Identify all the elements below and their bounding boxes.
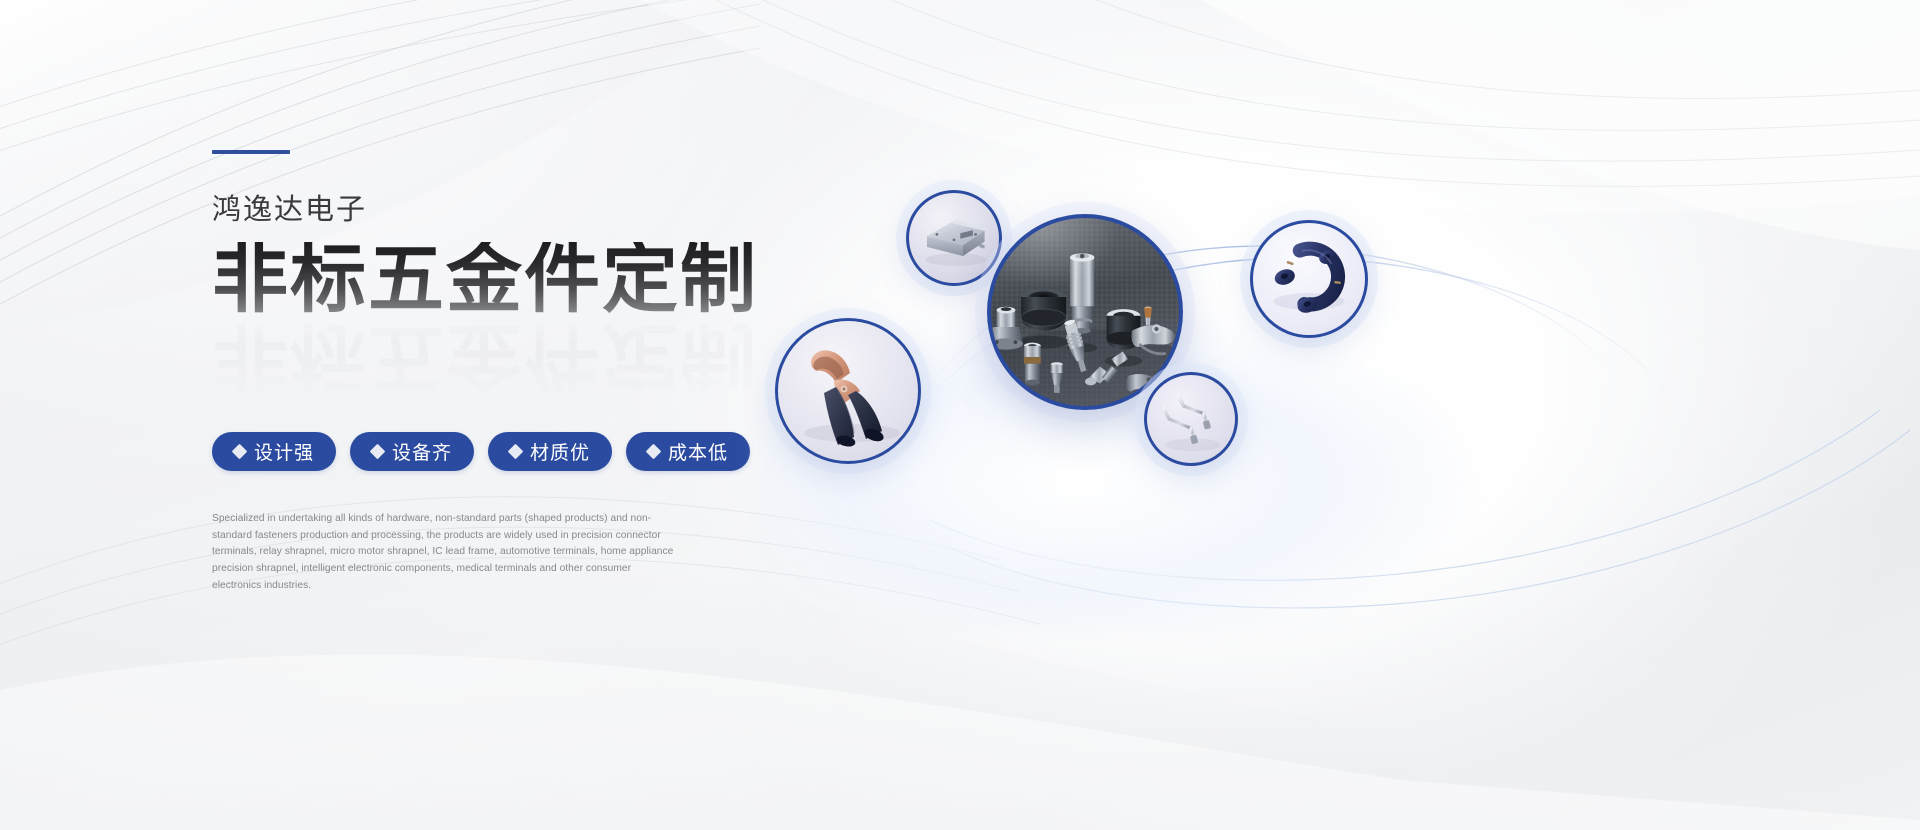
- diamond-icon: [646, 444, 662, 460]
- feature-badge-label: 设备齐: [392, 438, 452, 465]
- feature-badge-material[interactable]: 材质优: [488, 432, 612, 471]
- gallery-item-copper-battery-clamp[interactable]: [775, 318, 921, 464]
- hero-banner: 鸿逸达电子 非标五金件定制 非标五金件定制 设计强 设备齐 材质优 成本低: [0, 0, 1920, 830]
- diamond-icon: [370, 444, 386, 460]
- banner-description: Specialized in undertaking all kinds of …: [212, 511, 682, 594]
- feature-badge-label: 材质优: [530, 438, 590, 465]
- gallery-item-sheet-metal-enclosure[interactable]: [906, 190, 1002, 286]
- hero-specular-highlight: [987, 214, 1126, 293]
- headline-reflection: 非标五金件定制: [212, 318, 758, 394]
- bent-wire-brackets-image: [1147, 375, 1235, 463]
- copper-battery-clamp-image: [778, 321, 918, 461]
- feature-badge-cost[interactable]: 成本低: [626, 432, 750, 471]
- diamond-icon: [508, 444, 524, 460]
- accent-rule: [212, 150, 290, 154]
- feature-badge-label: 设计强: [254, 438, 314, 465]
- feature-badge-design[interactable]: 设计强: [212, 432, 336, 471]
- feature-badge-equipment[interactable]: 设备齐: [350, 432, 474, 471]
- product-gallery: [745, 150, 1805, 550]
- gallery-item-c-clip-retaining-ring[interactable]: [1250, 220, 1368, 338]
- feature-badge-label: 成本低: [668, 438, 728, 465]
- diamond-icon: [232, 444, 248, 460]
- c-clip-retaining-ring-image: [1253, 223, 1365, 335]
- gallery-item-bent-wire-brackets[interactable]: [1144, 372, 1238, 466]
- sheet-metal-enclosure-image: [909, 193, 999, 283]
